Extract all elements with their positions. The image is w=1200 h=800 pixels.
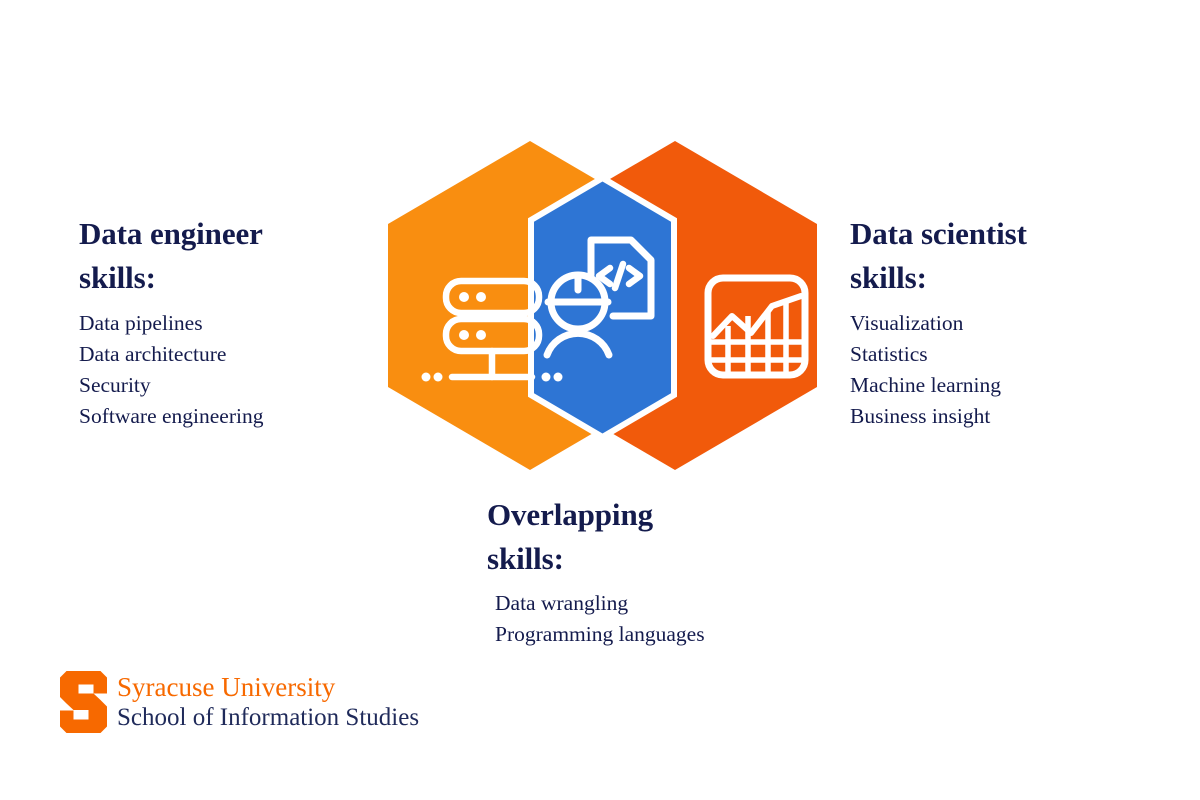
syracuse-university-logo: Syracuse University School of Informatio… — [60, 671, 419, 733]
list-item: Programming languages — [495, 619, 817, 650]
venn-hexagon-diagram — [380, 130, 825, 485]
infographic-canvas: Data engineer skills: Data pipelines Dat… — [0, 0, 1200, 800]
list-item: Business insight — [850, 401, 1180, 432]
list-item: Security — [79, 370, 409, 401]
data-scientist-skill-list: Visualization Statistics Machine learnin… — [850, 308, 1180, 432]
logo-school-name: School of Information Studies — [117, 703, 419, 733]
list-item: Data pipelines — [79, 308, 409, 339]
list-item: Statistics — [850, 339, 1180, 370]
data-scientist-heading: Data scientist skills: — [850, 212, 1110, 300]
list-item: Data wrangling — [495, 588, 817, 619]
list-item: Data architecture — [79, 339, 409, 370]
data-engineer-skill-list: Data pipelines Data architecture Securit… — [79, 308, 409, 432]
data-engineer-column: Data engineer skills: Data pipelines Dat… — [79, 212, 409, 432]
overlapping-skills-heading: Overlapping skills: — [487, 493, 722, 581]
list-item: Visualization — [850, 308, 1180, 339]
data-scientist-column: Data scientist skills: Visualization Sta… — [850, 212, 1180, 432]
overlapping-skills-block: Overlapping skills: Data wrangling Progr… — [487, 493, 817, 650]
overlapping-skill-list: Data wrangling Programming languages — [487, 588, 817, 650]
logo-wordmark: Syracuse University School of Informatio… — [117, 671, 419, 733]
data-engineer-heading: Data engineer skills: — [79, 212, 329, 300]
list-item: Machine learning — [850, 370, 1180, 401]
list-item: Software engineering — [79, 401, 409, 432]
syracuse-block-s-icon — [60, 671, 107, 733]
logo-university-name: Syracuse University — [117, 672, 419, 703]
